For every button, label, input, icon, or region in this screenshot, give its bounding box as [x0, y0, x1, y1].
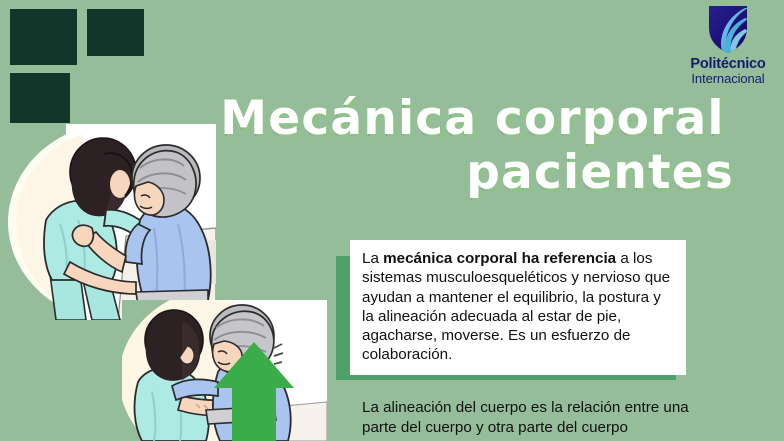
logo-line-1: Politécnico	[690, 57, 765, 72]
deco-square-3	[10, 73, 70, 123]
title-line-2: pacientes	[215, 146, 740, 200]
logo-text: Politécnico Internacional	[690, 57, 765, 85]
shield-icon	[705, 2, 751, 54]
logo-line-2: Internacional	[690, 72, 765, 85]
nurse-hugging-patient-with-up-arrow	[122, 300, 327, 441]
deco-square-2	[87, 9, 144, 56]
definition-card-text: La mecánica corporal ha referencia a los…	[362, 249, 676, 365]
deco-square-1	[10, 9, 77, 65]
politecnico-internacional-logo: Politécnico Internacional	[676, 2, 780, 94]
slide-canvas: Politécnico Internacional Mecánica corpo…	[0, 0, 784, 441]
definition-card: La mecánica corporal ha referencia a los…	[350, 240, 686, 375]
secondary-paragraph: La alineación del cuerpo es la relación …	[362, 398, 712, 438]
nurse-assisting-patient-standing	[8, 124, 216, 320]
title-line-1: Mecánica corporal	[215, 92, 740, 146]
page-title: Mecánica corporal pacientes	[215, 92, 740, 200]
